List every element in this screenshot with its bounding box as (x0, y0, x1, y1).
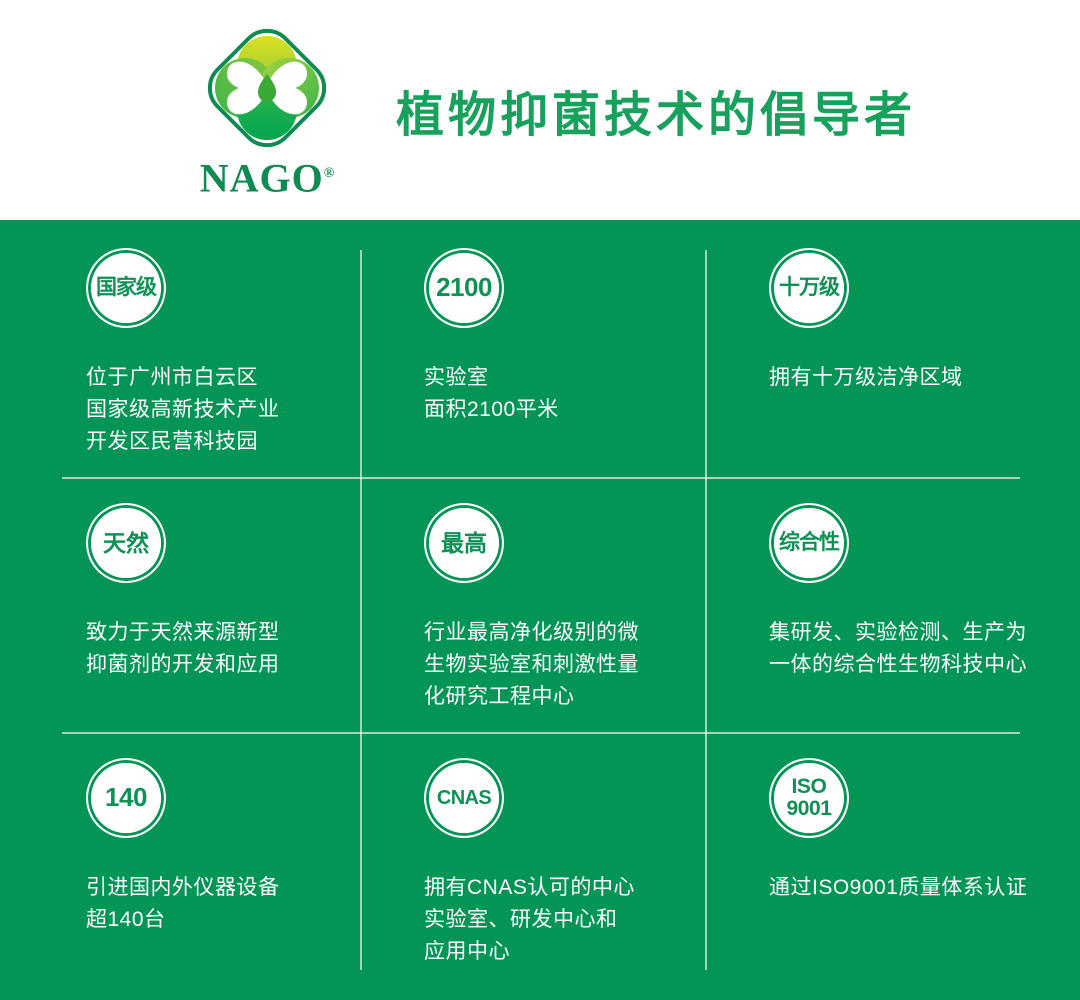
feature-cell: ISO 9001 通过ISO9001质量体系认证 (745, 758, 1080, 904)
feature-badge: CNAS (424, 758, 504, 838)
feature-cell: 2100 实验室 面积2100平米 (400, 248, 745, 426)
feature-cell: 天然 致力于天然来源新型 抑菌剂的开发和应用 (62, 503, 407, 681)
feature-badge-label: 综合性 (779, 532, 839, 554)
feature-badge-label: 140 (105, 784, 147, 811)
feature-badge-inner: 国家级 (91, 253, 161, 323)
feature-badge: ISO 9001 (769, 758, 849, 838)
feature-description: 位于广州市白云区 国家级高新技术产业 开发区民营科技园 (86, 362, 407, 458)
header-bar: NAGO® 植物抑菌技术的倡导者 (0, 0, 1080, 220)
feature-badge-label: ISO 9001 (786, 776, 831, 820)
feature-badge: 最高 (424, 503, 504, 583)
feature-cell: 综合性 集研发、实验检测、生产为 一体的综合性生物科技中心 (745, 503, 1080, 681)
brand-logo: NAGO® (192, 28, 342, 188)
feature-badge-inner: ISO 9001 (774, 763, 844, 833)
feature-badge-inner: 2100 (429, 253, 499, 323)
feature-cell: 十万级 拥有十万级洁净区域 (745, 248, 1080, 394)
feature-badge: 2100 (424, 248, 504, 328)
feature-description: 引进国内外仪器设备 超140台 (86, 872, 407, 936)
feature-badge: 天然 (86, 503, 166, 583)
feature-badge-inner: 140 (91, 763, 161, 833)
feature-badge-inner: 天然 (91, 508, 161, 578)
feature-badge: 140 (86, 758, 166, 838)
feature-cell: CNAS 拥有CNAS认可的中心 实验室、研发中心和 应用中心 (400, 758, 745, 968)
feature-badge-inner: 最高 (429, 508, 499, 578)
feature-description: 实验室 面积2100平米 (424, 362, 745, 426)
feature-description: 拥有十万级洁净区域 (769, 362, 1080, 394)
feature-badge-label: 2100 (436, 274, 492, 301)
feature-badge-label: 国家级 (96, 277, 156, 299)
features-panel: 国家级 位于广州市白云区 国家级高新技术产业 开发区民营科技园 2100 实验室… (0, 220, 1080, 1000)
feature-description: 拥有CNAS认可的中心 实验室、研发中心和 应用中心 (424, 872, 745, 968)
feature-cell: 140 引进国内外仪器设备 超140台 (62, 758, 407, 936)
brand-wordmark: NAGO® (192, 154, 342, 198)
page-title: 植物抑菌技术的倡导者 (396, 86, 916, 146)
feature-badge-inner: CNAS (429, 763, 499, 833)
feature-badge: 国家级 (86, 248, 166, 328)
nago-flower-logo-icon (194, 28, 340, 150)
feature-badge-inner: 综合性 (774, 508, 844, 578)
feature-description: 行业最高净化级别的微 生物实验室和刺激性量 化研究工程中心 (424, 617, 745, 713)
infographic-page: NAGO® 植物抑菌技术的倡导者 国家级 位于广州市白云区 国家级高新技术产业 … (0, 0, 1080, 1000)
brand-name-text: NAGO (200, 155, 324, 200)
feature-badge-inner: 十万级 (774, 253, 844, 323)
feature-cell: 最高 行业最高净化级别的微 生物实验室和刺激性量 化研究工程中心 (400, 503, 745, 713)
feature-description: 致力于天然来源新型 抑菌剂的开发和应用 (86, 617, 407, 681)
feature-cell: 国家级 位于广州市白云区 国家级高新技术产业 开发区民营科技园 (62, 248, 407, 458)
feature-badge: 综合性 (769, 503, 849, 583)
feature-badge-label: 天然 (103, 531, 149, 555)
registered-mark-icon: ® (324, 166, 334, 181)
feature-description: 集研发、实验检测、生产为 一体的综合性生物科技中心 (769, 617, 1080, 681)
feature-badge-label: 十万级 (779, 277, 839, 299)
feature-badge-label: 最高 (441, 531, 487, 555)
feature-description: 通过ISO9001质量体系认证 (769, 872, 1080, 904)
feature-badge-label: CNAS (437, 788, 491, 809)
feature-badge: 十万级 (769, 248, 849, 328)
features-grid: 国家级 位于广州市白云区 国家级高新技术产业 开发区民营科技园 2100 实验室… (0, 220, 1080, 1000)
